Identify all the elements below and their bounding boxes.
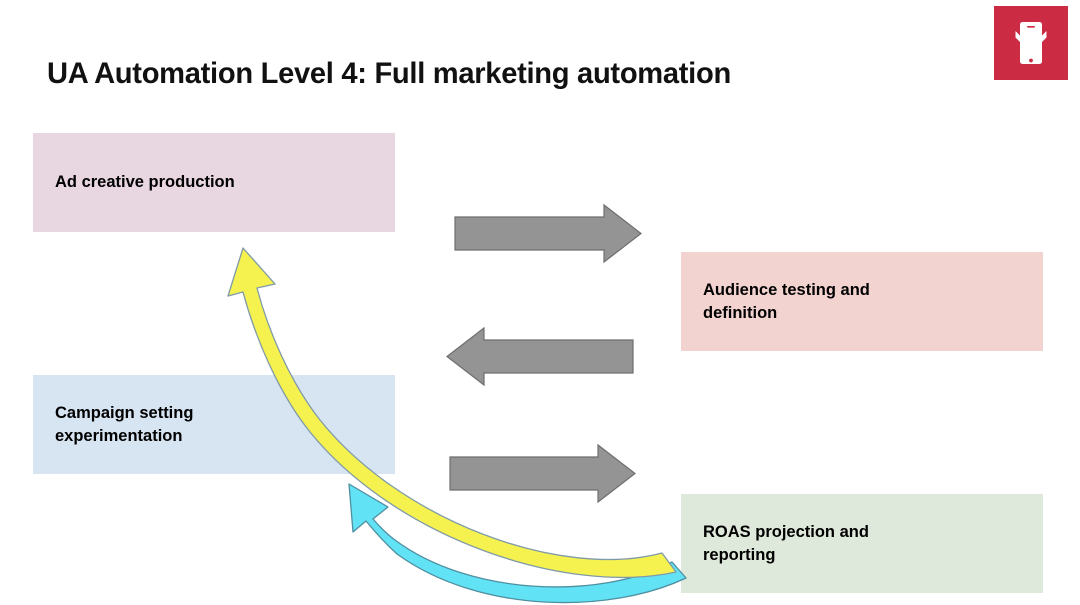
page-title: UA Automation Level 4: Full marketing au… [47, 55, 901, 93]
phone-envelope-icon [994, 6, 1068, 80]
mobile-envelope-logo [994, 6, 1068, 80]
process-box-audience-testing[interactable]: Audience testing and definition [681, 252, 1043, 351]
curved-arrow-roas-to-ad-creative[interactable] [228, 248, 676, 577]
process-box-label: ROAS projection and reporting [681, 521, 883, 566]
arrow-left-audience-to-campaign[interactable] [447, 328, 633, 385]
process-box-ad-creative[interactable]: Ad creative production [33, 133, 395, 232]
slide-canvas: UA Automation Level 4: Full marketing au… [0, 0, 1080, 605]
arrow-right-ad-creative-to-audience[interactable] [455, 205, 641, 262]
process-box-label: Campaign setting experimentation [33, 402, 207, 447]
process-box-label: Audience testing and definition [681, 279, 884, 324]
process-box-label: Ad creative production [33, 171, 249, 193]
arrow-right-campaign-to-roas[interactable] [450, 445, 635, 502]
process-box-roas-projection[interactable]: ROAS projection and reporting [681, 494, 1043, 593]
